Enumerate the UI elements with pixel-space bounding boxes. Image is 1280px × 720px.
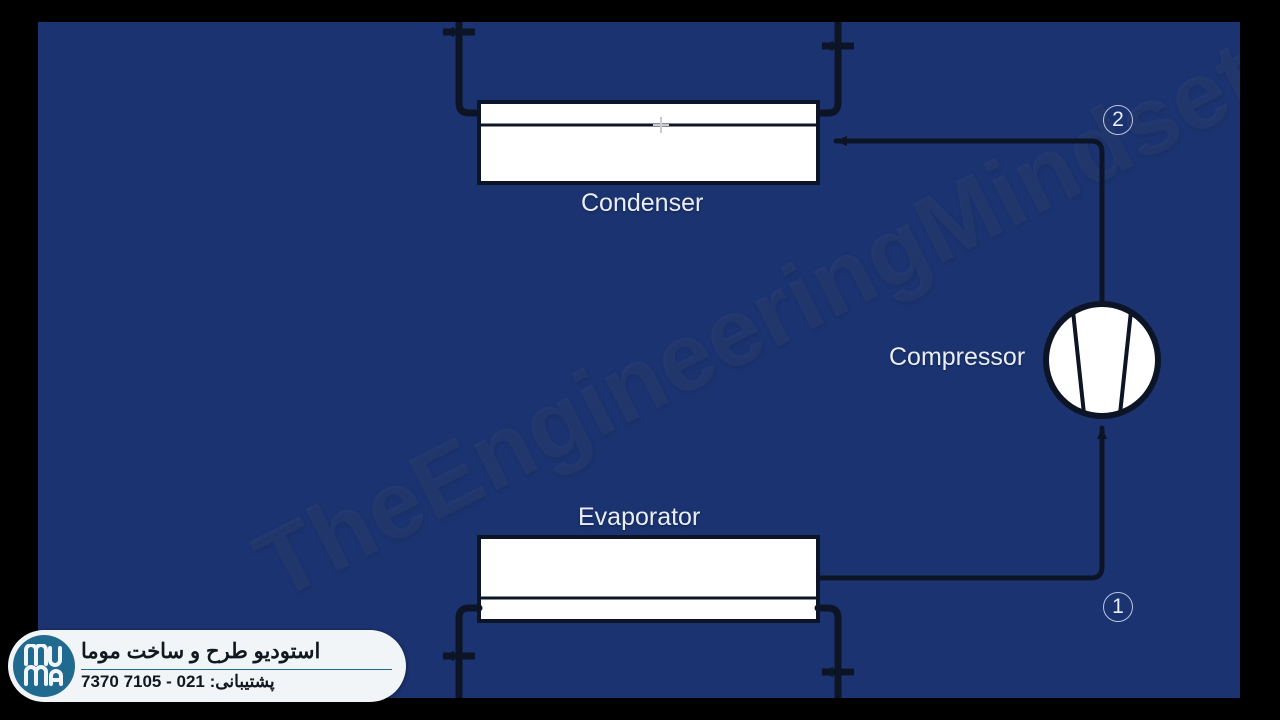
screen-root: TheEngineeringMindset.com xyxy=(0,0,1280,720)
branding-text-block: استودیو طرح و ساخت موما پشتیبانی: 021 - … xyxy=(75,635,406,696)
refrigeration-cycle-diagram xyxy=(0,0,1280,720)
brand-divider xyxy=(81,669,392,671)
compressor-label: Compressor xyxy=(889,343,1025,372)
line-evaporator-to-compressor xyxy=(818,428,1102,578)
condenser-body xyxy=(479,102,818,183)
brand-support-phone: پشتیبانی: 021 - 7105 7370 xyxy=(81,672,275,692)
state-point-1: 1 xyxy=(1103,592,1133,622)
muma-logo-icon xyxy=(13,635,75,697)
condenser-secondary-loop xyxy=(443,0,854,113)
line-compressor-to-condenser xyxy=(836,141,1102,303)
condenser-label: Condenser xyxy=(581,189,703,218)
evaporator-secondary-loop xyxy=(443,608,854,720)
evaporator-body xyxy=(479,537,818,621)
compressor-body xyxy=(1046,304,1158,416)
state-point-2: 2 xyxy=(1103,105,1133,135)
branding-bar: استودیو طرح و ساخت موما پشتیبانی: 021 - … xyxy=(8,630,406,702)
evaporator-label: Evaporator xyxy=(578,503,700,532)
brand-title: استودیو طرح و ساخت موما xyxy=(81,639,320,665)
